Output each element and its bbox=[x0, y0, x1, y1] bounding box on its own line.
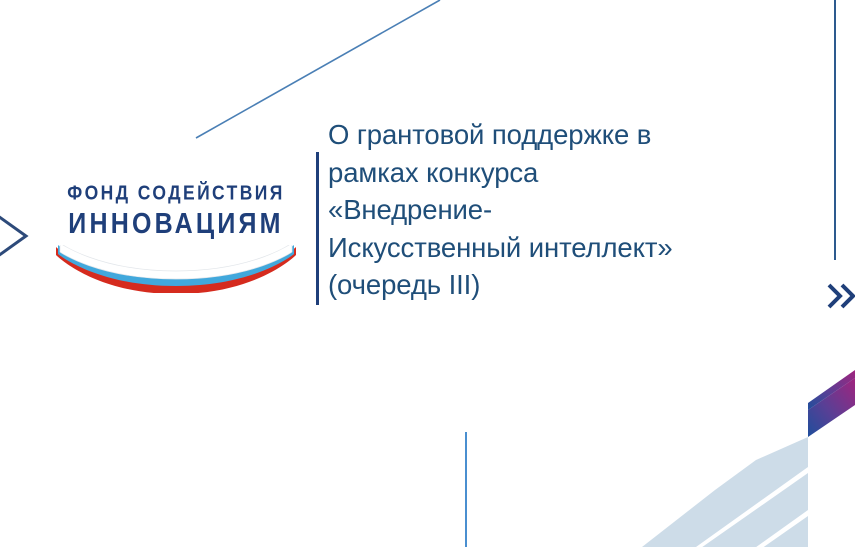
center-vertical-rule bbox=[465, 432, 467, 547]
panel-stripes bbox=[682, 467, 808, 547]
slide-canvas: ФОНД СОДЕЙСТВИЯ ИННОВАЦИЯМ О грантовой п… bbox=[0, 0, 855, 547]
logo-line-1: ФОНД СОДЕЙСТВИЯ bbox=[56, 183, 296, 204]
title-divider-rule bbox=[316, 152, 319, 305]
gradient-band-tail bbox=[808, 370, 855, 410]
page-title: О грантовой поддержке в рамках конкурса … bbox=[328, 116, 840, 304]
fund-logo: ФОНД СОДЕЙСТВИЯ ИННОВАЦИЯМ bbox=[56, 183, 296, 293]
logo-line-2: ИННОВАЦИЯМ bbox=[56, 210, 296, 239]
gradient-band bbox=[808, 378, 855, 437]
tricolor-swoosh-icon bbox=[54, 245, 298, 293]
chevron-right-icon bbox=[0, 204, 30, 268]
gradient-corner-graphic bbox=[640, 370, 855, 547]
light-panel bbox=[642, 437, 808, 547]
